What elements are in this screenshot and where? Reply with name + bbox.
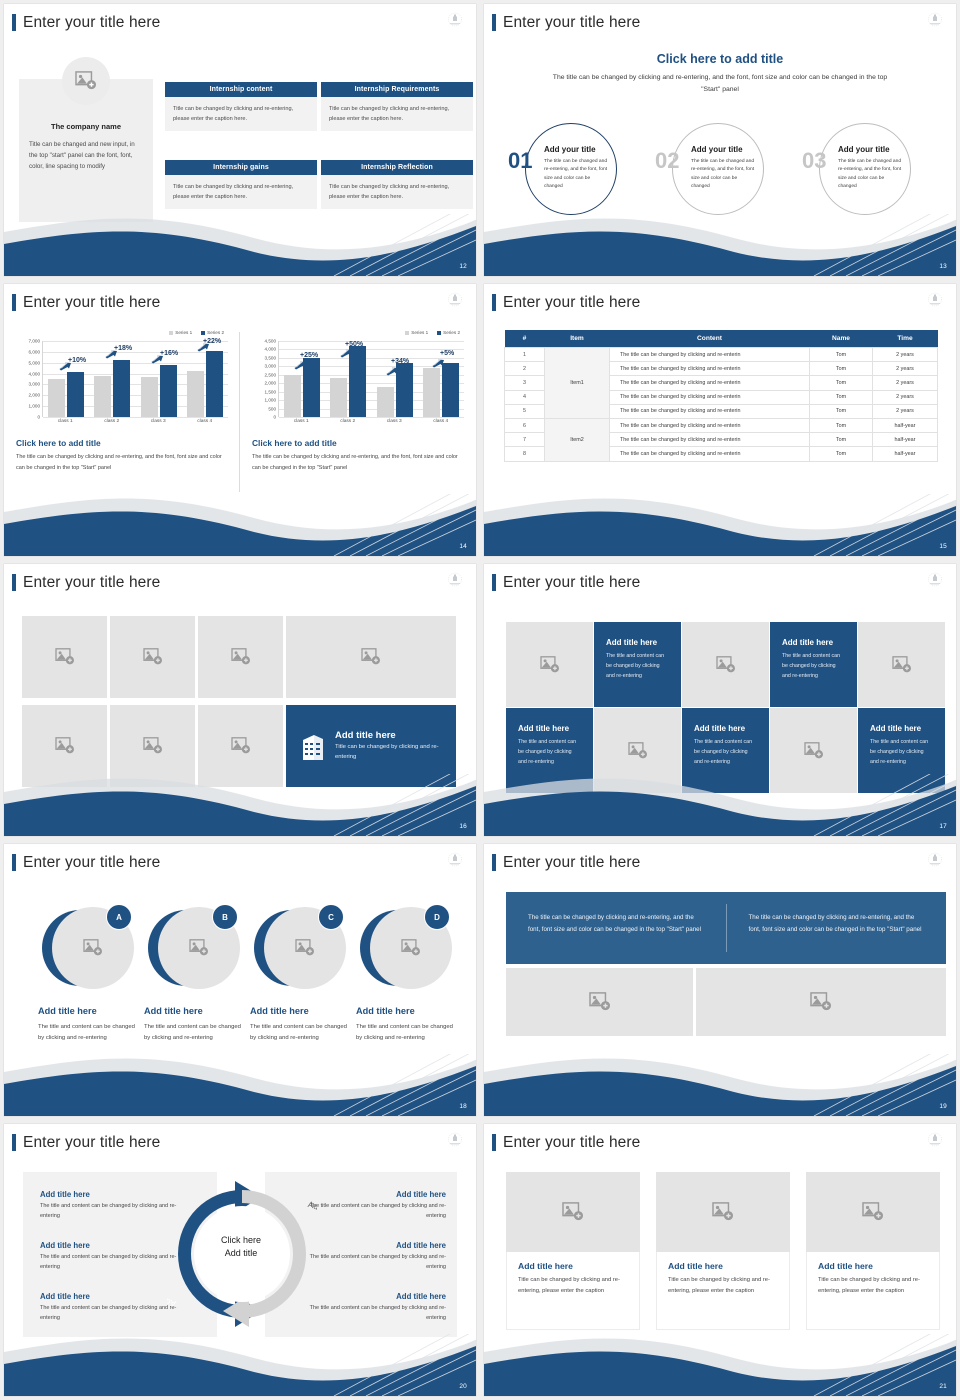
image-placeholder-icon bbox=[804, 742, 824, 760]
slide-title: Enter your title here bbox=[503, 575, 640, 591]
cell-name: Tom bbox=[810, 418, 873, 432]
chart-2-xaxis: class 1class 2class 3class 4 bbox=[278, 419, 464, 424]
wave-footer: 20 bbox=[4, 1334, 476, 1396]
image-placeholder-1[interactable] bbox=[22, 616, 107, 698]
tile-body: The title and content can be changed by … bbox=[870, 737, 933, 767]
cell-index: 2 bbox=[505, 362, 545, 376]
title-accent-bar bbox=[12, 1134, 16, 1151]
tile-text-10[interactable]: Add title hereThe title and content can … bbox=[858, 708, 945, 793]
crest-logo-icon bbox=[925, 571, 945, 591]
item-title: Add title here bbox=[296, 1292, 446, 1301]
image-placeholder-icon bbox=[231, 648, 251, 666]
legend-label: Series 2 bbox=[443, 330, 460, 335]
vertical-divider bbox=[239, 332, 240, 492]
tile-text-6[interactable]: Add title hereThe title and content can … bbox=[506, 708, 593, 793]
info-card-2-body: Title can be changed by clicking and re-… bbox=[321, 97, 473, 131]
card-title: Add title here bbox=[668, 1261, 778, 1271]
circle-title-d: Add title here bbox=[356, 1006, 415, 1016]
image-placeholder-icon bbox=[712, 1202, 734, 1222]
card-body: Title can be changed by clicking and re-… bbox=[818, 1275, 928, 1298]
slide-header: 12 Enter your title here bbox=[12, 14, 160, 31]
image-placeholder-left[interactable] bbox=[506, 968, 693, 1036]
band-text-left: The title can be changed by clicking and… bbox=[506, 892, 726, 964]
cell-time: 2 years bbox=[873, 376, 938, 390]
tile-body: The title and content can be changed by … bbox=[694, 737, 757, 767]
slide-header: Enter your title here bbox=[12, 1134, 160, 1151]
title-accent-bar bbox=[12, 294, 16, 311]
page-number: 19 bbox=[939, 1103, 947, 1110]
tile-image-9[interactable] bbox=[770, 708, 857, 793]
chart-2-plotarea: +25% +50% +34% +5% bbox=[278, 341, 464, 417]
item-body: The title and content can be changed by … bbox=[296, 1252, 446, 1272]
slide-header: Enter your title here bbox=[12, 854, 160, 871]
title-accent-bar bbox=[12, 574, 16, 591]
chart-1-caption: The title can be changed by clicking and… bbox=[16, 452, 228, 475]
slide-14[interactable]: Enter your title here Series 1 Series 2 … bbox=[4, 284, 476, 556]
chart-2-legend: Series 1 Series 2 bbox=[405, 330, 460, 335]
image-placeholder-icon bbox=[75, 71, 97, 91]
cell-name: Tom bbox=[810, 348, 873, 362]
chart-2-annotation-4: +5% bbox=[440, 350, 454, 357]
wave-footer: 18 bbox=[4, 1054, 476, 1116]
image-placeholder-icon bbox=[295, 939, 315, 957]
chart-2-yaxis: 0 500 1,000 1,500 2,000 2,500 3,000 3,50… bbox=[252, 341, 276, 417]
col-header-time: Time bbox=[873, 330, 938, 348]
card-body: Title can be changed by clicking and re-… bbox=[518, 1275, 628, 1298]
cycle-label-left: Add your title here bbox=[167, 1251, 177, 1309]
slide-title: Enter your title here bbox=[23, 15, 160, 31]
slide-15[interactable]: Enter your title here # Item Content Nam… bbox=[484, 284, 956, 556]
info-card-3[interactable]: Internship gains Title can be changed by… bbox=[165, 160, 317, 209]
card-title: Add title here bbox=[818, 1261, 928, 1271]
info-card-2-header: Internship Requirements bbox=[321, 82, 473, 97]
page-number: 16 bbox=[459, 823, 467, 830]
chart-1-yaxis: 0 1,000 2,000 3,000 4,000 5,000 6,000 7,… bbox=[16, 341, 40, 417]
main-heading: Click here to add title bbox=[484, 52, 956, 66]
slide-20[interactable]: Enter your title here Add title hereThe … bbox=[4, 1124, 476, 1396]
image-placeholder-icon bbox=[143, 737, 163, 755]
slide-title: Enter your title here bbox=[503, 295, 640, 311]
step-title-01: Add your title bbox=[544, 145, 596, 154]
feature-title: Add title here bbox=[335, 730, 440, 741]
slide-header: Enter your title here bbox=[492, 1134, 640, 1151]
chart-1-legend: Series 1 Series 2 bbox=[169, 330, 224, 335]
circle-body-b: The title and content can be changed by … bbox=[144, 1022, 242, 1044]
wave-footer: 12 bbox=[4, 214, 476, 276]
image-placeholder-icon bbox=[143, 648, 163, 666]
legend-label: Series 1 bbox=[175, 330, 192, 335]
info-card-3-body: Title can be changed by clicking and re-… bbox=[165, 175, 317, 209]
page-number: 14 bbox=[459, 543, 467, 550]
slide-title: Enter your title here bbox=[503, 15, 640, 31]
step-item-01[interactable]: 01 Add your title The title can be chang… bbox=[506, 120, 619, 220]
item-body: The title and content can be changed by … bbox=[296, 1303, 446, 1323]
image-placeholder-icon bbox=[810, 992, 832, 1012]
title-accent-bar bbox=[492, 574, 496, 591]
circle-title-b: Add title here bbox=[144, 1006, 203, 1016]
growth-arrow-icon bbox=[294, 361, 307, 370]
feature-body: Title can be changed by clicking and re-… bbox=[335, 743, 440, 762]
wave-footer: 15 bbox=[484, 494, 956, 556]
slide-header: Enter your title here bbox=[492, 294, 640, 311]
company-name: The company name bbox=[19, 122, 153, 131]
slide-title: Enter your title here bbox=[23, 855, 160, 871]
image-placeholder-icon bbox=[562, 1202, 584, 1222]
slide-title: Enter your title here bbox=[23, 1135, 160, 1151]
info-card-1[interactable]: Internship content Title can be changed … bbox=[165, 82, 317, 131]
cell-content: The title can be changed by clicking and… bbox=[610, 447, 810, 461]
cell-time: half-year bbox=[873, 418, 938, 432]
circle-title-c: Add title here bbox=[250, 1006, 309, 1016]
tile-image-1[interactable] bbox=[506, 622, 593, 707]
item-title: Add title here bbox=[296, 1241, 446, 1250]
tile-image-5[interactable] bbox=[858, 622, 945, 707]
cell-item: Item1 bbox=[545, 348, 610, 419]
step-title-03: Add your title bbox=[838, 145, 890, 154]
cell-name: Tom bbox=[810, 376, 873, 390]
info-card-3-header: Internship gains bbox=[165, 160, 317, 175]
tile-title: Add title here bbox=[518, 724, 581, 733]
chart-2-annotation-2: +50% bbox=[345, 341, 363, 348]
wave-footer: 14 bbox=[4, 494, 476, 556]
tile-text-4[interactable]: Add title hereThe title and content can … bbox=[770, 622, 857, 707]
title-accent-bar bbox=[12, 854, 16, 871]
crest-logo-icon bbox=[445, 851, 465, 871]
slide-18[interactable]: Enter your title here A Add title here T… bbox=[4, 844, 476, 1116]
circle-badge-b: B bbox=[212, 904, 238, 930]
slide-header: Enter your title here bbox=[492, 574, 640, 591]
page-number: 18 bbox=[459, 1103, 467, 1110]
slide-title: Enter your title here bbox=[23, 575, 160, 591]
tile-body: The title and content can be changed by … bbox=[606, 651, 669, 681]
step-number-01: 01 bbox=[508, 150, 532, 172]
growth-arrow-icon bbox=[386, 367, 399, 376]
tile-title: Add title here bbox=[870, 724, 933, 733]
cell-time: 2 years bbox=[873, 404, 938, 418]
main-subheading: The title can be changed by clicking and… bbox=[544, 72, 896, 96]
chart-2-caption: The title can be changed by clicking and… bbox=[252, 452, 464, 475]
info-card-4-header: Internship Reflection bbox=[321, 160, 473, 175]
feature-tile[interactable]: Add title here Title can be changed by c… bbox=[286, 705, 456, 787]
image-placeholder-icon bbox=[55, 648, 75, 666]
photo-card-3[interactable]: Add title hereTitle can be changed by cl… bbox=[806, 1172, 940, 1330]
crest-logo-icon bbox=[445, 571, 465, 591]
chart-1: Series 1 Series 2 0 1,000 2,000 3,000 4,… bbox=[16, 330, 230, 445]
step-item-03[interactable]: 03 Add your title The title can be chang… bbox=[800, 120, 913, 220]
cycle-right-item-2[interactable]: Add title hereThe title and content can … bbox=[296, 1241, 446, 1272]
cell-index: 5 bbox=[505, 404, 545, 418]
photo-card-1[interactable]: Add title hereTitle can be changed by cl… bbox=[506, 1172, 640, 1330]
table-header-row: # Item Content Name Time bbox=[505, 330, 938, 348]
page-number: 21 bbox=[939, 1383, 947, 1390]
step-title-02: Add your title bbox=[691, 145, 743, 154]
image-placeholder-right[interactable] bbox=[696, 968, 946, 1036]
slide-title: Enter your title here bbox=[23, 295, 160, 311]
wave-footer: 19 bbox=[484, 1054, 956, 1116]
item-body: The title and content can be changed by … bbox=[296, 1201, 446, 1221]
image-placeholder-2[interactable] bbox=[110, 616, 195, 698]
chart-2-subtitle: Click here to add title bbox=[252, 438, 337, 448]
slide-19[interactable]: Enter your title here The title can be c… bbox=[484, 844, 956, 1116]
cycle-center-label[interactable]: Click here Add title bbox=[208, 1234, 274, 1260]
page-number: 15 bbox=[939, 543, 947, 550]
tile-body: The title and content can be changed by … bbox=[782, 651, 845, 681]
image-placeholder-icon bbox=[862, 1202, 884, 1222]
crest-logo-icon bbox=[445, 1131, 465, 1151]
card-image-placeholder[interactable] bbox=[506, 1172, 640, 1252]
cell-time: 2 years bbox=[873, 362, 938, 376]
slide-deck-grid: 12 Enter your title here The company nam… bbox=[0, 0, 960, 1400]
chart-1-annotation-3: +16% bbox=[160, 350, 178, 357]
page-number: 20 bbox=[459, 1383, 467, 1390]
cell-content: The title can be changed by clicking and… bbox=[610, 362, 810, 376]
title-accent-bar bbox=[492, 14, 496, 31]
wave-footer: 21 bbox=[484, 1334, 956, 1396]
col-header-index: # bbox=[505, 330, 545, 348]
tile-text-8[interactable]: Add title hereThe title and content can … bbox=[682, 708, 769, 793]
card-title: Add title here bbox=[518, 1261, 628, 1271]
growth-arrow-icon bbox=[340, 349, 353, 358]
info-card-4-body: Title can be changed by clicking and re-… bbox=[321, 175, 473, 209]
crest-logo-icon bbox=[925, 11, 945, 31]
step-body-01: The title can be changed and re-entering… bbox=[544, 158, 610, 192]
chart-1-plotarea: +10% +18% +16% +22% bbox=[42, 341, 228, 417]
circle-title-a: Add title here bbox=[38, 1006, 97, 1016]
image-placeholder-icon bbox=[83, 939, 103, 957]
cell-content: The title can be changed by clicking and… bbox=[610, 390, 810, 404]
card-image-placeholder[interactable] bbox=[656, 1172, 790, 1252]
slide-header: Enter your title here bbox=[12, 574, 160, 591]
circle-body-a: The title and content can be changed by … bbox=[38, 1022, 136, 1044]
image-placeholder-6[interactable] bbox=[110, 705, 195, 787]
cell-index: 3 bbox=[505, 376, 545, 390]
cycle-label-right: Add your title here bbox=[307, 1199, 317, 1257]
photo-card-2[interactable]: Add title hereTitle can be changed by cl… bbox=[656, 1172, 790, 1330]
chart-1-annotation-1: +10% bbox=[68, 357, 86, 364]
tile-title: Add title here bbox=[606, 638, 669, 647]
cell-time: 2 years bbox=[873, 390, 938, 404]
step-body-03: The title can be changed and re-entering… bbox=[838, 158, 904, 192]
image-placeholder-icon bbox=[540, 656, 560, 674]
cell-name: Tom bbox=[810, 362, 873, 376]
chart-1-subtitle: Click here to add title bbox=[16, 438, 101, 448]
info-card-1-header: Internship content bbox=[165, 82, 317, 97]
growth-arrow-icon bbox=[432, 359, 445, 368]
cell-content: The title can be changed by clicking and… bbox=[610, 404, 810, 418]
cell-index: 1 bbox=[505, 348, 545, 362]
slide-title: Enter your title here bbox=[503, 1135, 640, 1151]
step-body-02: The title can be changed and re-entering… bbox=[691, 158, 757, 192]
title-accent-bar bbox=[492, 1134, 496, 1151]
image-placeholder-icon bbox=[401, 939, 421, 957]
chart-1-annotation-4: +22% bbox=[203, 338, 221, 345]
chart-2-annotation-1: +25% bbox=[300, 352, 318, 359]
crest-logo-icon bbox=[925, 851, 945, 871]
text-band[interactable]: The title can be changed by clicking and… bbox=[506, 892, 946, 964]
slide-header: Enter your title here bbox=[12, 294, 160, 311]
legend-label: Series 1 bbox=[411, 330, 428, 335]
info-card-2[interactable]: Internship Requirements Title can be cha… bbox=[321, 82, 473, 131]
cell-index: 8 bbox=[505, 447, 545, 461]
tile-image-7[interactable] bbox=[594, 708, 681, 793]
cell-index: 6 bbox=[505, 418, 545, 432]
tile-title: Add title here bbox=[694, 724, 757, 733]
col-header-content: Content bbox=[610, 330, 810, 348]
table-row[interactable]: 1Item1The title can be changed by clicki… bbox=[505, 348, 938, 362]
circle-badge-d: D bbox=[424, 904, 450, 930]
chart-2-annotation-3: +34% bbox=[391, 358, 409, 365]
data-table[interactable]: # Item Content Name Time 1Item1The title… bbox=[504, 330, 938, 462]
step-number-03: 03 bbox=[802, 150, 826, 172]
slide-header: Enter your title here bbox=[492, 854, 640, 871]
slide-21[interactable]: Enter your title here Add title hereTitl… bbox=[484, 1124, 956, 1396]
tile-title: Add title here bbox=[782, 638, 845, 647]
circle-badge-c: C bbox=[318, 904, 344, 930]
cell-content: The title can be changed by clicking and… bbox=[610, 433, 810, 447]
page-number: 17 bbox=[939, 823, 947, 830]
chart-1-bars bbox=[43, 341, 228, 417]
circle-badge-a: A bbox=[106, 904, 132, 930]
chart-2-plot: 0 500 1,000 1,500 2,000 2,500 3,000 3,50… bbox=[252, 341, 466, 433]
slide-header: Enter your title here bbox=[492, 14, 640, 31]
title-accent-bar bbox=[492, 854, 496, 871]
card-image-placeholder[interactable] bbox=[806, 1172, 940, 1252]
image-placeholder-5[interactable] bbox=[22, 705, 107, 787]
legend-label: Series 2 bbox=[207, 330, 224, 335]
page-number: 12 bbox=[459, 263, 467, 270]
building-icon bbox=[300, 731, 326, 761]
cell-time: 2 years bbox=[873, 348, 938, 362]
image-placeholder-icon bbox=[55, 737, 75, 755]
image-placeholder-3[interactable] bbox=[198, 616, 283, 698]
company-body: Title can be changed and new input, in t… bbox=[29, 140, 143, 173]
step-item-02[interactable]: 02 Add your title The title can be chang… bbox=[653, 120, 766, 220]
cell-content: The title can be changed by clicking and… bbox=[610, 376, 810, 390]
chart-1-xaxis: class 1class 2class 3class 4 bbox=[42, 419, 228, 424]
page-number: 13 bbox=[939, 263, 947, 270]
card-body: Title can be changed by clicking and re-… bbox=[668, 1275, 778, 1298]
image-placeholder-icon bbox=[189, 939, 209, 957]
chart-2: Series 1 Series 2 0 500 1,000 1,500 2,00… bbox=[252, 330, 466, 445]
circle-body-d: The title and content can be changed by … bbox=[356, 1022, 454, 1044]
cell-index: 4 bbox=[505, 390, 545, 404]
image-placeholder-icon bbox=[231, 737, 251, 755]
image-placeholder-icon bbox=[628, 742, 648, 760]
cell-name: Tom bbox=[810, 404, 873, 418]
slide-17[interactable]: Enter your title here Add title hereThe … bbox=[484, 564, 956, 836]
info-card-1-body: Title can be changed by clicking and re-… bbox=[165, 97, 317, 131]
title-accent-bar bbox=[492, 294, 496, 311]
band-text-right: The title can be changed by clicking and… bbox=[727, 892, 947, 964]
crest-logo-icon bbox=[445, 291, 465, 311]
table-row[interactable]: 6Item2The title can be changed by clicki… bbox=[505, 418, 938, 432]
image-placeholder-7[interactable] bbox=[198, 705, 283, 787]
cycle-right-item-3[interactable]: Add title hereThe title and content can … bbox=[296, 1292, 446, 1323]
cell-time: half-year bbox=[873, 433, 938, 447]
cell-name: Tom bbox=[810, 447, 873, 461]
image-placeholder-icon bbox=[589, 992, 611, 1012]
crest-logo-icon bbox=[925, 1131, 945, 1151]
title-accent-bar bbox=[12, 14, 16, 31]
cell-index: 7 bbox=[505, 433, 545, 447]
cell-content: The title can be changed by clicking and… bbox=[610, 418, 810, 432]
crest-logo-icon bbox=[925, 291, 945, 311]
slide-12[interactable]: 12 Enter your title here The company nam… bbox=[4, 4, 476, 276]
tile-text-2[interactable]: Add title hereThe title and content can … bbox=[594, 622, 681, 707]
col-header-name: Name bbox=[810, 330, 873, 348]
image-placeholder-4[interactable] bbox=[286, 616, 456, 698]
cycle-center-line2: Add title bbox=[208, 1247, 274, 1260]
slide-title: Enter your title here bbox=[503, 855, 640, 871]
slide-13[interactable]: Enter your title here Click here to add … bbox=[484, 4, 956, 276]
tile-image-3[interactable] bbox=[682, 622, 769, 707]
chart-1-annotation-2: +18% bbox=[114, 345, 132, 352]
image-placeholder-icon bbox=[892, 656, 912, 674]
col-header-item: Item bbox=[545, 330, 610, 348]
cell-content: The title can be changed by clicking and… bbox=[610, 348, 810, 362]
cell-item: Item2 bbox=[545, 418, 610, 461]
cell-name: Tom bbox=[810, 390, 873, 404]
tile-body: The title and content can be changed by … bbox=[518, 737, 581, 767]
company-image-placeholder[interactable] bbox=[62, 57, 110, 105]
circle-body-c: The title and content can be changed by … bbox=[250, 1022, 348, 1044]
cycle-center-line1: Click here bbox=[208, 1234, 274, 1247]
slide-16[interactable]: Enter your title here Add title here Tit… bbox=[4, 564, 476, 836]
step-number-02: 02 bbox=[655, 150, 679, 172]
cycle-right-item-1[interactable]: Add title hereThe title and content can … bbox=[296, 1190, 446, 1221]
crest-logo-icon bbox=[445, 11, 465, 31]
cell-name: Tom bbox=[810, 433, 873, 447]
cell-time: half-year bbox=[873, 447, 938, 461]
image-placeholder-icon bbox=[361, 648, 381, 666]
chart-1-plot: 0 1,000 2,000 3,000 4,000 5,000 6,000 7,… bbox=[16, 341, 230, 433]
item-title: Add title here bbox=[296, 1190, 446, 1199]
info-card-4[interactable]: Internship Reflection Title can be chang… bbox=[321, 160, 473, 209]
wave-footer: 13 bbox=[484, 214, 956, 276]
image-placeholder-icon bbox=[716, 656, 736, 674]
